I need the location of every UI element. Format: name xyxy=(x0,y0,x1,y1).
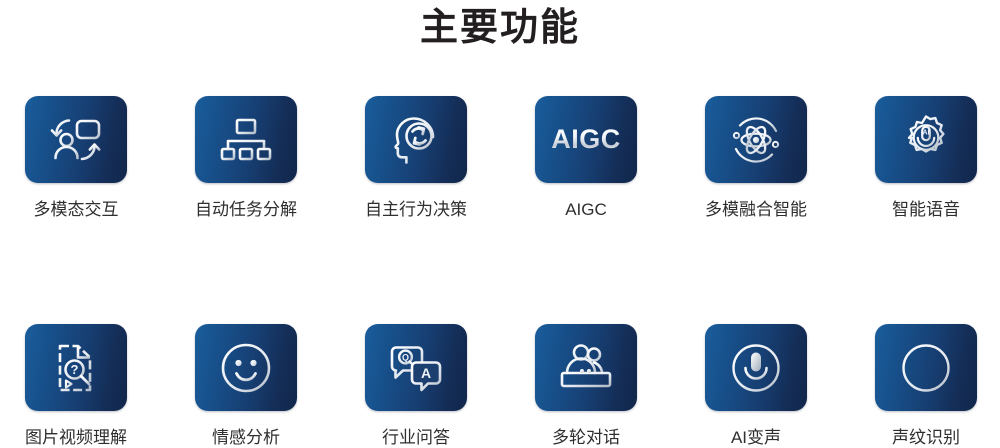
feature-tile[interactable]: Q A xyxy=(365,324,467,411)
feature-tile[interactable] xyxy=(25,96,127,183)
feature-label: AI变声 xyxy=(731,428,781,448)
feature-label: 自主行为决策 xyxy=(365,200,467,220)
feature-label: 多模融合智能 xyxy=(705,200,807,220)
feature-label: 智能语音 xyxy=(892,200,960,220)
microphone-circle-icon xyxy=(729,341,783,395)
feature-item-industry-qa[interactable]: Q A 行业问答 xyxy=(365,324,467,448)
feature-label: 多模态交互 xyxy=(34,200,119,220)
feature-tile[interactable] xyxy=(705,324,807,411)
feature-tile[interactable]: AIGC xyxy=(535,96,637,183)
feature-item-voiceprint-recognition[interactable]: 声纹识别 xyxy=(875,324,977,448)
qa-chat-bubbles-icon: Q A xyxy=(388,342,444,394)
feature-tile[interactable] xyxy=(195,324,297,411)
atom-orbit-icon xyxy=(728,113,784,167)
feature-tile[interactable] xyxy=(875,324,977,411)
smiley-face-icon xyxy=(219,341,273,395)
feature-tile[interactable]: ? xyxy=(25,324,127,411)
feature-label: 自动任务分解 xyxy=(195,200,297,220)
feature-item-multi-turn-dialog[interactable]: 多轮对话 xyxy=(535,324,637,448)
feature-tile[interactable] xyxy=(705,96,807,183)
feature-overview-page: 主要功能 xyxy=(0,0,1000,447)
head-refresh-cycle-icon xyxy=(389,114,443,166)
feature-row-1: 多模态交互 xyxy=(0,96,1000,220)
feature-tile[interactable] xyxy=(365,96,467,183)
feature-item-task-decomposition[interactable]: 自动任务分解 xyxy=(195,96,297,220)
feature-label: 图片视频理解 xyxy=(25,428,127,448)
user-screen-sync-icon xyxy=(48,114,104,166)
feature-grid: 多模态交互 xyxy=(0,96,1000,448)
feature-label: 行业问答 xyxy=(382,428,450,448)
org-chart-hierarchy-icon xyxy=(220,116,272,164)
aigc-text-icon: AIGC xyxy=(551,126,621,153)
feature-label: 声纹识别 xyxy=(892,428,960,448)
two-people-table-dialog-icon xyxy=(557,343,615,393)
feature-item-multimodal-interaction[interactable]: 多模态交互 xyxy=(25,96,127,220)
feature-tile[interactable] xyxy=(195,96,297,183)
feature-label: AIGC xyxy=(565,200,607,220)
svg-text:Q: Q xyxy=(402,352,409,362)
feature-tile[interactable] xyxy=(535,324,637,411)
voiceprint-waveform-circle-icon xyxy=(899,341,953,395)
feature-item-multimodal-fusion[interactable]: 多模融合智能 xyxy=(705,96,807,220)
gear-microphone-ai-icon: AI xyxy=(899,113,953,167)
feature-item-sentiment-analysis[interactable]: 情感分析 xyxy=(195,324,297,448)
svg-text:AI: AI xyxy=(923,129,930,136)
feature-item-autonomous-decision[interactable]: 自主行为决策 xyxy=(365,96,467,220)
feature-tile[interactable]: AI xyxy=(875,96,977,183)
feature-item-ai-voice-change[interactable]: AI变声 xyxy=(705,324,807,448)
svg-text:?: ? xyxy=(71,362,79,377)
feature-row-2: ? 图片视频理解 xyxy=(0,324,1000,448)
page-title: 主要功能 xyxy=(0,2,1000,54)
feature-item-aigc[interactable]: AIGC AIGC xyxy=(535,96,637,220)
feature-item-smart-voice[interactable]: AI 智能语音 xyxy=(875,96,977,220)
svg-text:A: A xyxy=(421,365,431,381)
document-magnifier-question-icon: ? xyxy=(52,340,100,396)
feature-label: 情感分析 xyxy=(212,428,280,448)
feature-label: 多轮对话 xyxy=(552,428,620,448)
feature-item-image-video-understanding[interactable]: ? 图片视频理解 xyxy=(25,324,127,448)
